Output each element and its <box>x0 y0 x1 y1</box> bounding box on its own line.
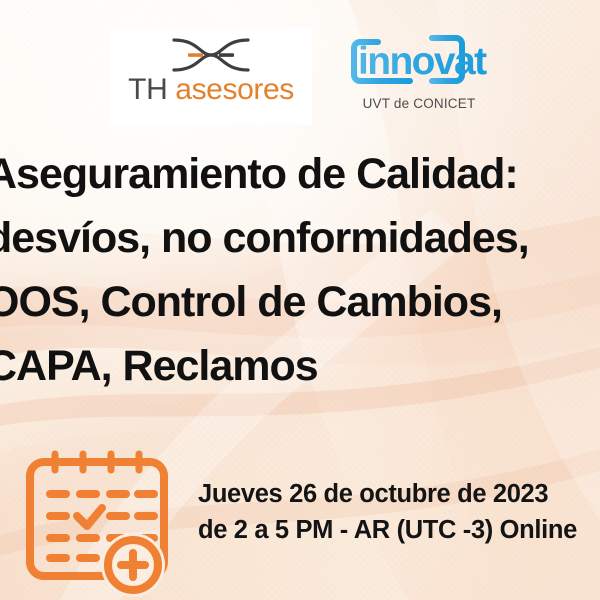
webinar-flyer: TH asesores innovat UVT de CONICET <box>0 0 600 600</box>
logo-row: TH asesores innovat UVT de CONICET <box>0 0 600 140</box>
headline-line-4: CAPA, Reclamos <box>0 334 600 398</box>
innovat-logo: innovat UVT de CONICET <box>344 30 494 111</box>
bowtie-curves-icon <box>168 37 254 73</box>
event-details: Jueves 26 de octubre de 2023 de 2 a 5 PM… <box>0 440 600 600</box>
event-date-line: Jueves 26 de octubre de 2023 <box>198 476 600 512</box>
headline-line-3: OOS, Control de Cambios, <box>0 270 600 334</box>
event-date-time: Jueves 26 de octubre de 2023 de 2 a 5 PM… <box>198 476 600 548</box>
headline-line-1: Aseguramiento de Calidad: <box>0 142 600 206</box>
innovat-subtitle: UVT de CONICET <box>344 96 494 111</box>
calendar-plus-check-icon <box>22 448 182 598</box>
headline-line-2: desvíos, no conformidades, <box>0 206 600 270</box>
th-asesores-logo: TH asesores <box>110 28 312 125</box>
page-title: Aseguramiento de Calidad: desvíos, no co… <box>0 142 600 398</box>
th-word-secondary: asesores <box>175 73 294 106</box>
th-word-primary: TH <box>128 73 167 106</box>
event-time-line: de 2 a 5 PM - AR (UTC -3) Online <box>198 512 600 548</box>
svg-text:innovat: innovat <box>358 40 487 83</box>
th-asesores-wordmark: TH asesores <box>128 75 294 105</box>
innovat-bracket-icon: innovat <box>344 30 490 92</box>
